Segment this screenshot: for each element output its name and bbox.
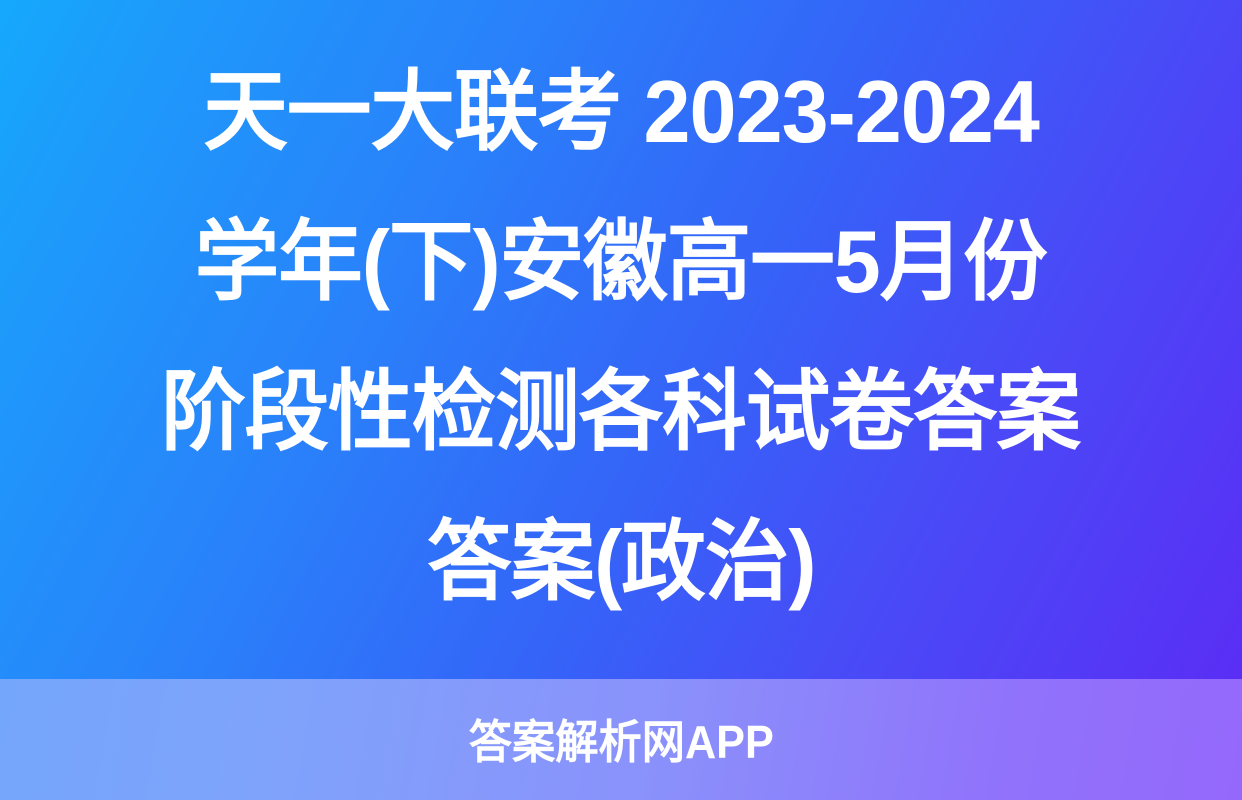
poster-image: 天一大联考 2023-2024 学年(下)安徽高一5月份 阶段性检测各科试卷答案… [0, 0, 1242, 800]
headline-line-3: 阶段性检测各科试卷答案 [162, 337, 1081, 487]
headline-line-1: 天一大联考 2023-2024 [203, 37, 1038, 187]
footer-band: 答案解析网APP [0, 679, 1242, 800]
headline-block: 天一大联考 2023-2024 学年(下)安徽高一5月份 阶段性检测各科试卷答案… [0, 0, 1242, 679]
headline-line-2: 学年(下)安徽高一5月份 [195, 187, 1047, 337]
headline-line-4: 答案(政治) [427, 487, 815, 637]
app-name-label: 答案解析网APP [468, 713, 773, 767]
